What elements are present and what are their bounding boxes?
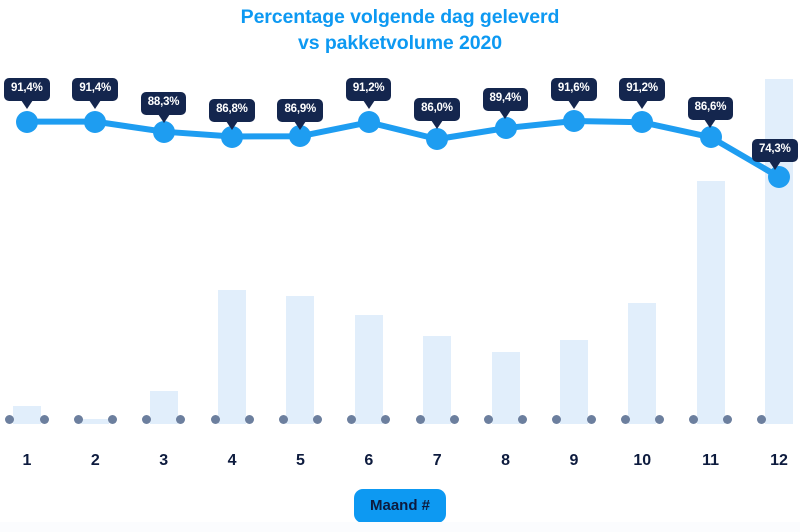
x-tick-2: 2 [91,452,100,470]
x-tick-12: 12 [770,452,788,470]
chart-container: Percentage volgende dag geleverd vs pakk… [0,0,800,532]
x-axis-title-wrap: Maand # [0,489,800,523]
bottom-strip [0,522,800,532]
x-tick-6: 6 [364,452,373,470]
value-label-month-7: 86,0% [414,98,460,121]
value-label-month-11: 86,6% [688,97,734,120]
x-tick-4: 4 [228,452,237,470]
x-tick-9: 9 [569,452,578,470]
value-label-month-3: 88,3% [141,92,187,115]
value-label-month-12: 74,3% [752,139,798,162]
value-label-month-9: 91,6% [551,78,597,101]
value-label-month-8: 89,4% [483,88,529,111]
x-axis: 123456789101112 [0,440,800,485]
x-axis-title-badge: Maand # [354,489,446,523]
x-tick-11: 11 [702,452,719,470]
x-tick-7: 7 [433,452,442,470]
value-label-month-5: 86,9% [277,99,323,122]
x-tick-10: 10 [633,452,651,470]
x-tick-8: 8 [501,452,510,470]
value-label-month-1: 91,4% [4,78,50,101]
value-label-month-4: 86,8% [209,99,255,122]
x-tick-1: 1 [23,452,32,470]
x-tick-3: 3 [159,452,168,470]
x-tick-5: 5 [296,452,305,470]
value-label-month-6: 91,2% [346,78,392,101]
value-label-month-2: 91,4% [72,78,118,101]
plot-area: 91,4%91,4%88,3%86,8%86,9%91,2%86,0%89,4%… [0,0,800,440]
value-label-group: 91,4%91,4%88,3%86,8%86,9%91,2%86,0%89,4%… [0,0,800,440]
value-label-month-10: 91,2% [619,78,665,101]
